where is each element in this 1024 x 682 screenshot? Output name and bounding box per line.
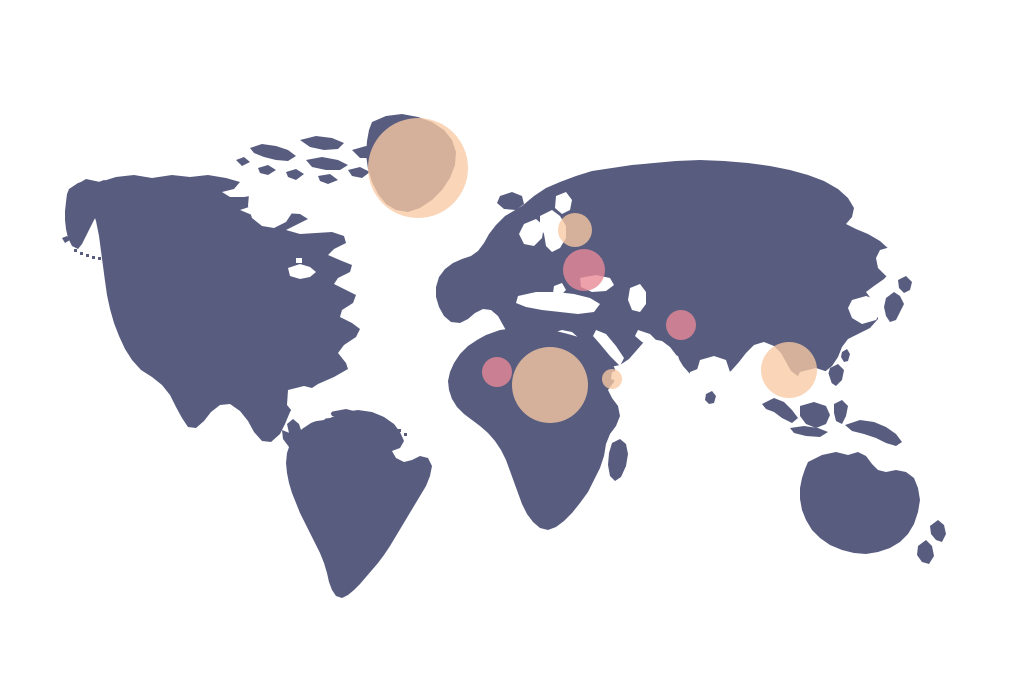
map-bubble[interactable]: Ukraine / Sortehavet — [563, 249, 605, 291]
ocean-top-edge — [0, 0, 1024, 110]
ocean-bottom-edge — [0, 600, 1024, 682]
world-bubble-map-figure: Kriser, katastrofer og spændinger med be… — [0, 0, 1024, 682]
map-bubble[interactable]: Afghanistan / Sydasien — [666, 310, 696, 340]
map-bubble[interactable]: Yemen / Det Røde Hav — [602, 369, 622, 389]
map-bubble[interactable]: Vestafrika / Sahel — [482, 357, 512, 387]
land-sri-lanka — [705, 391, 716, 404]
map-landmasses — [62, 114, 946, 598]
land-new-zealand — [930, 520, 946, 542]
land-sulawesi — [834, 400, 848, 424]
map-bubble[interactable]: Taiwan / Østasien — [761, 342, 817, 398]
land-new-guinea — [845, 420, 902, 446]
map-bubble[interactable]: Arktis / Grønland — [368, 118, 468, 218]
land-sumatra — [762, 398, 798, 423]
land-madagascar — [608, 439, 628, 481]
land-new-zealand-south — [917, 540, 934, 564]
ocean-bering — [894, 200, 924, 230]
land-japan — [884, 292, 904, 322]
land-japan-north — [898, 276, 912, 293]
land-java — [790, 426, 828, 437]
map-bubble[interactable]: Nordatlanten / Nordkalotten — [558, 213, 592, 247]
land-borneo — [800, 402, 830, 428]
ocean-arabian-sea — [644, 352, 682, 384]
world-map: Arktis / GrønlandNordatlanten / Nordkalo… — [0, 0, 1024, 682]
ocean-great-lakes2 — [296, 258, 302, 263]
land-australia — [800, 452, 920, 554]
land-south-america — [286, 410, 432, 598]
map-bubble[interactable]: Sahel / Sudan — [512, 347, 588, 423]
